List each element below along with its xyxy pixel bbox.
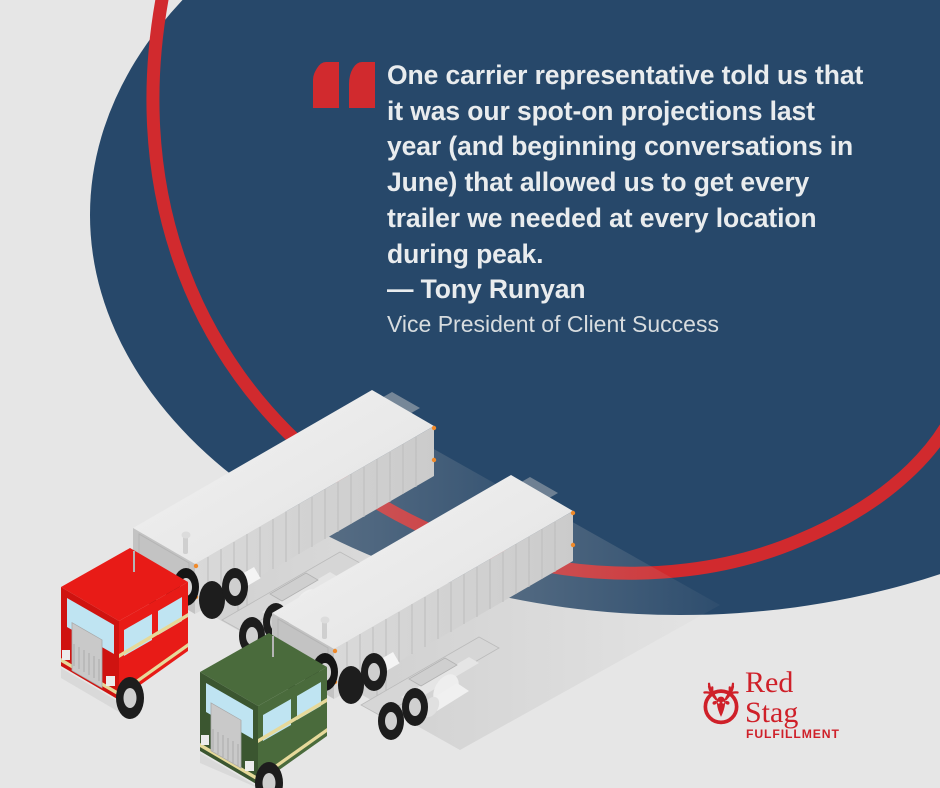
quote-text: One carrier representative told us that … xyxy=(313,58,873,272)
exhaust-stack xyxy=(183,536,188,554)
marker-light xyxy=(333,649,337,653)
exhaust-stack xyxy=(322,621,327,639)
brand-logo: Red Stag FULFILLMENT xyxy=(698,678,848,730)
stag-head-in-circle-icon xyxy=(698,681,744,727)
logo-name: Red Stag xyxy=(745,668,848,728)
headlight-left xyxy=(201,735,209,745)
marker-light xyxy=(571,511,575,515)
marker-light xyxy=(194,564,198,568)
headlight-right xyxy=(245,761,254,771)
marker-light xyxy=(571,543,575,547)
logo-subtitle: FULFILLMENT xyxy=(746,727,848,741)
front-wheel-hub xyxy=(124,688,137,708)
quotation-mark-icon xyxy=(313,62,375,108)
air-cleaner xyxy=(182,532,191,539)
headlight-right xyxy=(106,676,115,686)
marker-light xyxy=(432,458,436,462)
quote-attribution: — Tony Runyan Vice President of Client S… xyxy=(313,272,873,341)
attribution-title: Vice President of Client Success xyxy=(387,308,873,341)
attribution-name: — Tony Runyan xyxy=(387,272,873,308)
testimonial-graphic: One carrier representative told us that … xyxy=(0,0,940,788)
logo-wordmark: Red Stag FULFILLMENT xyxy=(745,668,848,741)
quote-block: One carrier representative told us that … xyxy=(313,58,873,341)
headlight-left xyxy=(62,650,70,660)
air-cleaner xyxy=(321,617,330,624)
marker-light xyxy=(432,426,436,430)
